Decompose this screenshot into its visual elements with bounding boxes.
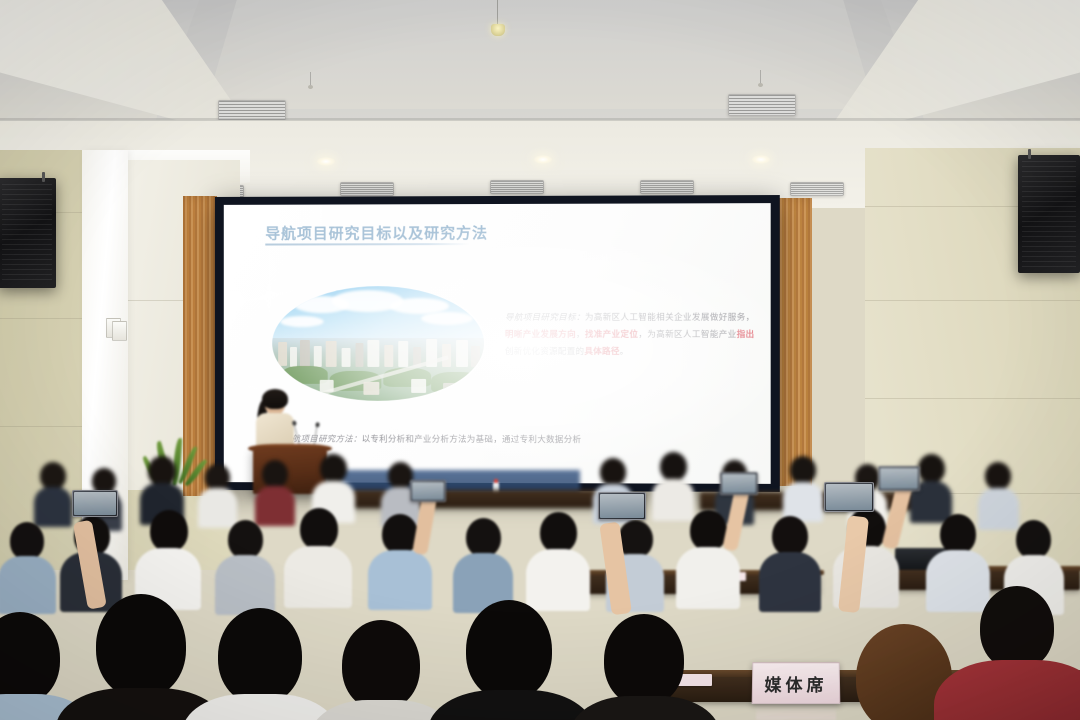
building-15 [471, 346, 480, 367]
smartphone-left-1[interactable] [72, 490, 118, 517]
head [320, 454, 347, 483]
greenery-4 [431, 372, 481, 393]
head [300, 508, 338, 550]
speaker-bracket-left [42, 172, 45, 182]
slide-body-seg2: ，为高新区人工智能产业 [638, 329, 736, 339]
building-18 [411, 379, 426, 393]
ac-vent-row-3 [490, 180, 544, 194]
torso [428, 690, 594, 720]
slide-title: 导航项目研究目标以及研究方法 [265, 222, 488, 244]
smartphone[interactable] [410, 480, 446, 502]
head [40, 462, 66, 490]
media-seat-card-reflection [756, 703, 836, 720]
speaker-grill-left [2, 184, 52, 282]
media-seat-card: 媒体席 [752, 662, 841, 704]
building-2 [290, 347, 297, 367]
smartphone-right-1[interactable] [598, 492, 646, 520]
head [10, 522, 44, 560]
pendant-light [491, 24, 505, 36]
slide-body-highlight-2: 找准产业定位 [585, 329, 638, 339]
downlight-3 [534, 155, 552, 164]
head [262, 460, 288, 488]
head [940, 514, 976, 554]
phone-screen [412, 482, 444, 500]
ceiling-tray-inner [205, 0, 875, 109]
ac-vent-ceiling-right [728, 94, 796, 116]
ac-vent-row-4 [640, 180, 694, 194]
torso [934, 660, 1080, 720]
head [600, 458, 626, 486]
smartphone-right-2[interactable] [824, 482, 874, 512]
audience: ADE · WIT [0, 430, 1080, 720]
head [980, 586, 1054, 670]
downlight-2 [317, 157, 335, 166]
building-16 [320, 380, 334, 392]
phone-screen [74, 492, 116, 515]
building-4 [314, 346, 322, 367]
building-3 [300, 340, 310, 367]
slide-body-highlight-3: 指出 [737, 329, 755, 339]
building-6 [342, 348, 351, 367]
head [466, 518, 501, 557]
speaker-grill-right [1022, 161, 1076, 267]
wall-seam-r2 [865, 300, 1080, 301]
media-seat-card-label: 媒体席 [764, 671, 827, 696]
smartphone[interactable] [720, 472, 758, 495]
head [790, 456, 816, 484]
wall-speaker-left [0, 178, 56, 288]
smartphone[interactable] [878, 466, 920, 491]
slide-body-highlight-4: 具体路径 [584, 346, 619, 356]
downlight-4 [752, 155, 770, 164]
slide-title-underline [265, 243, 469, 245]
head [660, 452, 687, 481]
wall-speaker-right [1018, 155, 1080, 273]
head [918, 454, 945, 483]
building-19 [443, 383, 456, 395]
head [342, 620, 420, 710]
sprinkler-left [310, 72, 311, 86]
audience-row-near [0, 580, 1080, 720]
building-9 [384, 345, 393, 367]
slide-body-seg1: 为高新区人工智能相关企业发展做好服务， [585, 312, 755, 322]
phone-screen [600, 494, 644, 518]
ac-vent-row-5 [790, 182, 844, 196]
head [985, 462, 1011, 490]
head [1016, 520, 1051, 559]
sprinkler-right [760, 70, 761, 84]
phone-screen [722, 474, 756, 493]
head [0, 612, 60, 704]
head [228, 520, 263, 559]
head [205, 464, 230, 491]
head [96, 594, 186, 698]
ac-vent-row-2 [340, 182, 394, 196]
phone-screen [880, 468, 918, 489]
audience-row-mid [0, 500, 1080, 590]
head [690, 510, 727, 551]
light-switch-plate-2 [112, 321, 127, 341]
wall-seam-r3 [865, 398, 1080, 399]
head [218, 608, 302, 704]
arm-raised [412, 496, 437, 556]
head [466, 600, 552, 700]
building-14 [456, 340, 468, 367]
pendant-rod [497, 0, 498, 26]
slide-body-seg4: 。 [620, 346, 629, 356]
phone-screen [826, 484, 872, 510]
conference-hall-photo: 导航项目研究目标以及研究方法 [0, 0, 1080, 720]
slide-body-seg3: 创新优化资源配置的 [505, 346, 584, 356]
building-7 [355, 343, 363, 367]
head [540, 512, 577, 553]
slide-body-lead: 导航项目研究目标： [505, 312, 585, 322]
building-8 [367, 340, 379, 367]
building-5 [326, 341, 337, 367]
speaker-bracket-right [1028, 149, 1031, 159]
head [150, 510, 188, 552]
slide-cityscape-photo [272, 286, 484, 401]
head [604, 614, 684, 706]
torso [182, 694, 338, 720]
building-10 [398, 341, 408, 367]
head [772, 516, 808, 556]
head [148, 456, 176, 486]
building-1 [278, 342, 287, 366]
building-17 [363, 382, 379, 395]
cloud-4 [421, 312, 473, 325]
ceiling-edge-line [0, 118, 1080, 121]
cloud-5 [280, 316, 324, 327]
slide-body-paragraph: 导航项目研究目标：为高新区人工智能相关企业发展做好服务，明晰产业发展方向，找准产… [505, 309, 754, 360]
photo-cityscape [272, 338, 484, 401]
slide-body-sep1: ， [576, 329, 585, 339]
presenter-hair [262, 389, 288, 409]
slide-body-highlight-1: 明晰产业发展方向 [505, 329, 576, 339]
